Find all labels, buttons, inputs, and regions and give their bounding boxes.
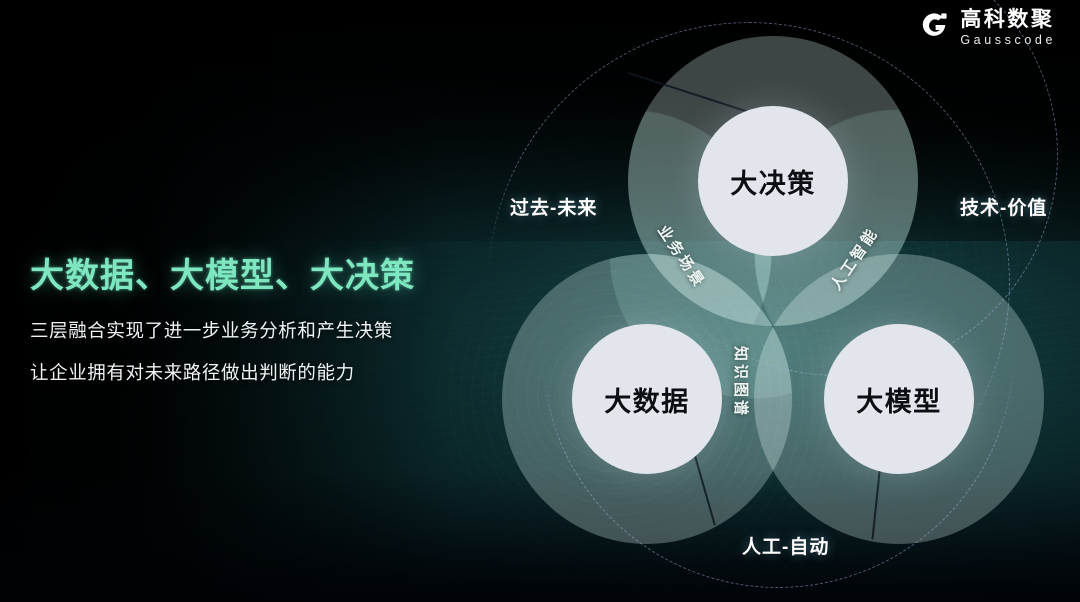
venn-core-label-bigdata: 大数据 bbox=[604, 380, 690, 419]
venn-core-bigdata: 大数据 bbox=[572, 324, 722, 474]
subtitle-line-1: 三层融合实现了进一步业务分析和产生决策 bbox=[30, 317, 460, 343]
left-text-block: 大数据、大模型、大决策 三层融合实现了进一步业务分析和产生决策 让企业拥有对未来… bbox=[30, 248, 460, 401]
axis-label-past-future: 过去-未来 bbox=[510, 193, 597, 220]
venn-core-bigmodel: 大模型 bbox=[824, 324, 974, 474]
venn-intersection-label-kg: 知识图谱 bbox=[731, 346, 752, 418]
venn-core-decision: 大决策 bbox=[698, 106, 848, 256]
venn-diagram: 大决策 大数据 大模型 业务场景 人工智能 知识图谱 bbox=[466, 20, 1080, 580]
slide-canvas: 高科数聚 Gausscode 大数据、大模型、大决策 三层融合实现了进一步业务分… bbox=[0, 0, 1080, 602]
venn-core-label-decision: 大决策 bbox=[730, 162, 816, 201]
axis-label-manual-auto: 人工-自动 bbox=[742, 532, 829, 559]
axis-label-tech-value: 技术-价值 bbox=[960, 193, 1047, 220]
page-title: 大数据、大模型、大决策 bbox=[30, 248, 460, 297]
venn-core-label-bigmodel: 大模型 bbox=[856, 380, 942, 419]
subtitle-line-2: 让企业拥有对未来路径做出判断的能力 bbox=[30, 359, 460, 385]
